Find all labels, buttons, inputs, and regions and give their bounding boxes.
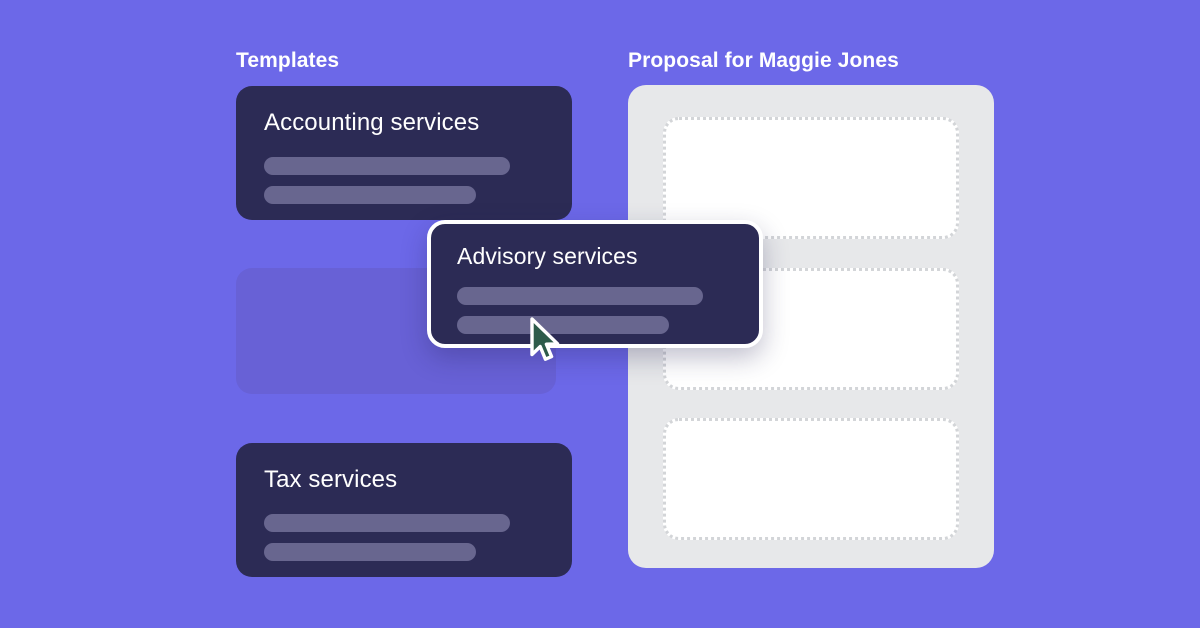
- placeholder-bar-short: [264, 543, 476, 561]
- placeholder-bar-long: [264, 514, 510, 532]
- template-card-accounting[interactable]: Accounting services: [236, 86, 572, 220]
- template-card-tax[interactable]: Tax services: [236, 443, 572, 577]
- template-card-advisory-dragging[interactable]: Advisory services: [427, 220, 763, 348]
- template-card-title: Accounting services: [264, 110, 544, 136]
- illustration-stage: Templates Accounting services Tax servic…: [0, 0, 1200, 628]
- template-card-title: Tax services: [264, 467, 544, 493]
- template-card-title: Advisory services: [457, 244, 735, 269]
- placeholder-bar-short: [457, 316, 669, 334]
- proposal-drop-slot[interactable]: [663, 418, 959, 540]
- placeholder-bar-short: [264, 186, 476, 204]
- templates-column-heading: Templates: [236, 50, 339, 71]
- proposal-column-heading: Proposal for Maggie Jones: [628, 50, 899, 71]
- placeholder-bar-long: [264, 157, 510, 175]
- placeholder-bar-long: [457, 287, 703, 305]
